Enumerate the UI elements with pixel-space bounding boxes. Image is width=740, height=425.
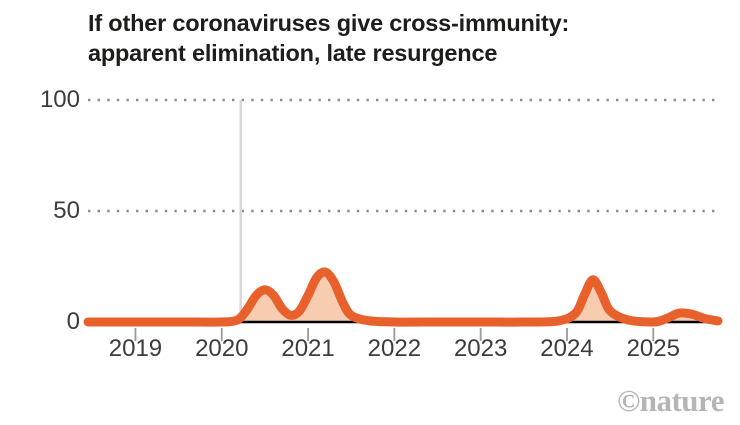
nature-credit-logo: ©nature [617, 385, 724, 416]
x-tick-label-2022: 2022 [344, 337, 444, 361]
y-tick-label-0: 0 [8, 310, 80, 334]
x-tick-label-2025: 2025 [603, 337, 703, 361]
y-tick-label-50: 50 [8, 199, 80, 223]
series-line-path [88, 272, 718, 322]
x-tick-label-2021: 2021 [258, 337, 358, 361]
x-tick-label-2020: 2020 [172, 337, 272, 361]
chart-figure: If other coronaviruses give cross-immuni… [0, 0, 740, 425]
y-tick-label-100: 100 [8, 88, 80, 112]
x-tick-label-2024: 2024 [517, 337, 617, 361]
x-tick-label-2023: 2023 [431, 337, 531, 361]
x-tick-label-2019: 2019 [85, 337, 185, 361]
gridlines-group [88, 100, 718, 211]
